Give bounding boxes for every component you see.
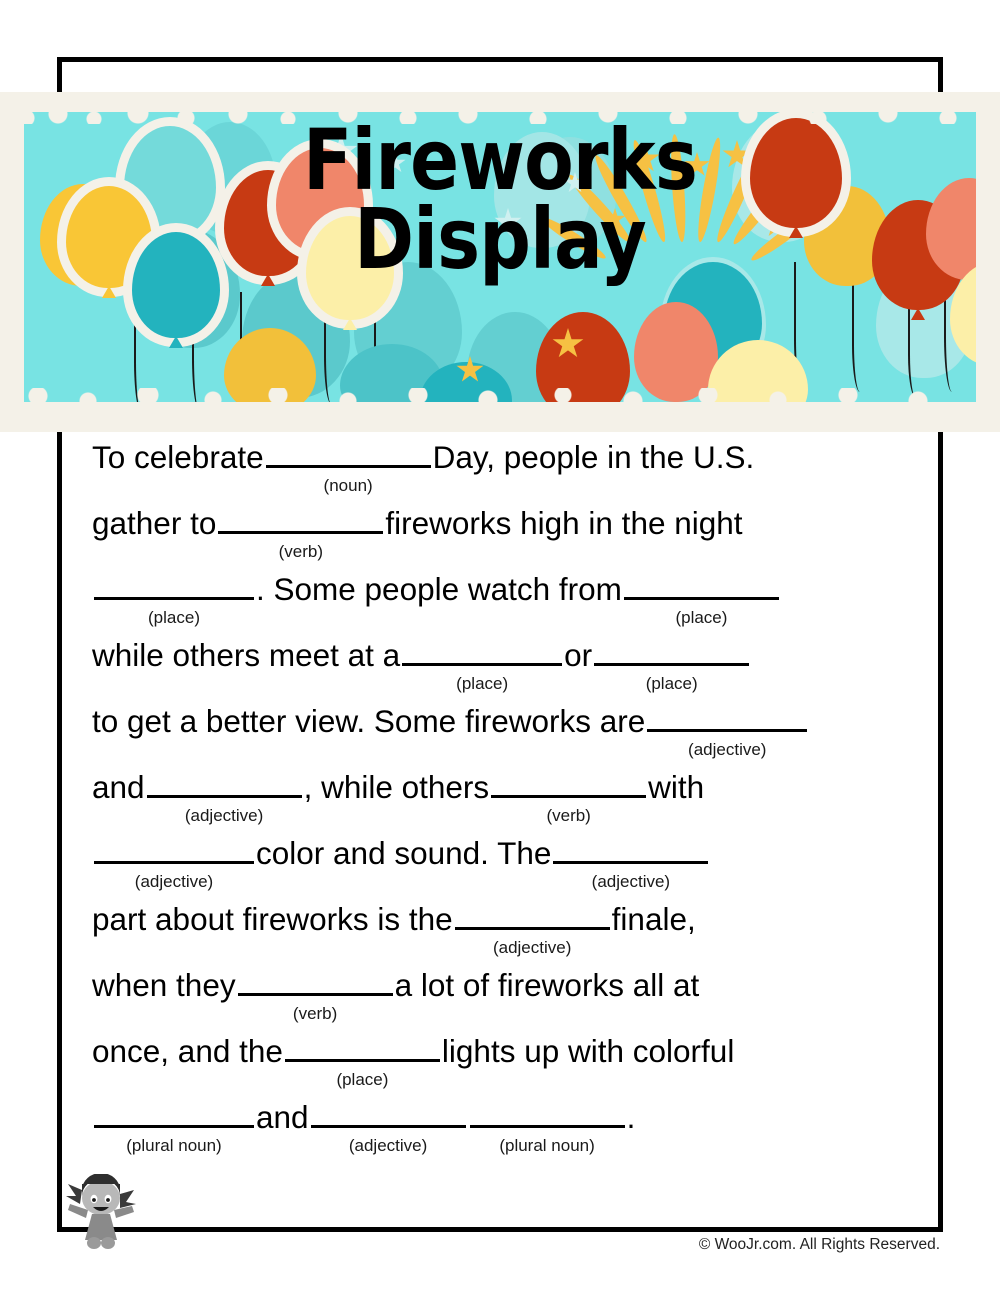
answer-blank[interactable]: (adjective) [311,1097,466,1128]
blank-hint-label: (place) [646,664,698,704]
sentence-text: part about fireworks is the [92,899,453,939]
sentence-text: color and sound. The [256,833,551,873]
blank-hint-label: (noun) [324,466,373,506]
blank-hint-label: (adjective) [185,796,263,836]
blank-hint-label: (adjective) [349,1126,427,1166]
blank-hint-label: (adjective) [688,730,766,770]
madlib-body: To celebrate (noun) Day, people in the U… [92,437,882,1163]
madlib-line: (adjective) color and sound. The(adjecti… [92,833,882,899]
sentence-text: lights up with colorful [442,1031,734,1071]
blank-hint-label: (verb) [279,532,323,572]
blank-hint-label: (adjective) [135,862,213,902]
sentence-text: or [564,635,592,675]
blank-hint-label: (adjective) [493,928,571,968]
sentence-text: to get a better view. Some fireworks are [92,701,645,741]
balloon-pale-yellow [306,216,394,320]
answer-blank[interactable]: (place) [94,569,254,600]
answer-blank[interactable]: (verb) [491,767,646,798]
blank-hint-label: (plural noun) [126,1126,221,1166]
blank-hint-label: (place) [675,598,727,638]
answer-blank[interactable]: (plural noun) [94,1097,254,1128]
balloon-knot [789,226,803,238]
balloon-shadow [494,132,590,248]
sentence-text: with [648,767,704,807]
sentence-text: and [92,767,145,807]
sentence-text: , while others [304,767,490,807]
sentence-text: . Some people watch from [256,569,622,609]
madlib-line: to get a better view. Some fireworks are… [92,701,882,767]
banner-artwork [24,112,976,402]
madlib-line: (place). Some people watch from(place) [92,569,882,635]
balloon-red [750,118,842,228]
woo-jr-ninja-mascot-icon [62,1174,140,1252]
sentence-text: fireworks high in the night [385,503,742,543]
balloon-red [536,312,630,402]
madlib-line: To celebrate (noun) Day, people in the U… [92,437,882,503]
madlib-line: when they (verb) a lot of fireworks all … [92,965,882,1031]
blank-hint-label: (plural noun) [499,1126,594,1166]
answer-blank[interactable]: (verb) [238,965,393,996]
balloon-coral [634,302,718,402]
blank-hint-label: (verb) [293,994,337,1034]
sentence-text: when they [92,965,236,1005]
banner-band [0,92,1000,432]
sentence-text: Day, people in the U.S. [433,437,755,477]
balloon-string [852,272,872,392]
firework-ray [668,134,688,243]
answer-blank[interactable]: (place) [285,1031,440,1062]
copyright-text: © WooJr.com. All Rights Reserved. [699,1236,940,1254]
answer-blank[interactable]: (adjective) [553,833,708,864]
blank-hint-label: (adjective) [592,862,670,902]
blank-hint-label: (place) [456,664,508,704]
answer-blank[interactable]: (plural noun) [470,1097,625,1128]
balloon-knot [343,318,357,330]
sentence-text: To celebrate [92,437,264,477]
answer-blank[interactable]: (place) [402,635,562,666]
sentence-text: a lot of fireworks all at [395,965,700,1005]
madlib-line: once, and the(place) lights up with colo… [92,1031,882,1097]
madlib-line: part about fireworks is the(adjective) f… [92,899,882,965]
madlib-line: gather to (verb) fireworks high in the n… [92,503,882,569]
answer-blank[interactable]: (place) [594,635,749,666]
sentence-text: while others meet at a [92,635,400,675]
madlib-line: and(adjective), while others(verb)with [92,767,882,833]
madlib-line: while others meet at a(place)or (place) [92,635,882,701]
sentence-text: . [627,1097,636,1137]
balloon-knot [102,286,116,298]
sentence-text: once, and the [92,1031,283,1071]
answer-blank[interactable]: (adjective) [455,899,610,930]
answer-blank[interactable]: (adjective) [147,767,302,798]
blank-hint-label: (verb) [546,796,590,836]
sentence-text: and [256,1097,309,1137]
answer-blank[interactable]: (verb) [218,503,383,534]
answer-blank[interactable]: (place) [624,569,779,600]
sentence-text: gather to [92,503,216,543]
sparkle-star [384,152,406,174]
balloon-knot [911,308,925,320]
madlib-line: (plural noun) and (adjective) (plural no… [92,1097,882,1163]
answer-blank[interactable]: (adjective) [647,701,807,732]
balloon-knot [169,336,183,348]
blank-hint-label: (place) [148,598,200,638]
answer-blank[interactable]: (noun) [266,437,431,468]
blank-hint-label: (place) [336,1060,388,1100]
balloon-teal [132,232,220,338]
answer-blank[interactable]: (adjective) [94,833,254,864]
sentence-text: finale, [612,899,696,939]
balloon-knot [261,274,275,286]
